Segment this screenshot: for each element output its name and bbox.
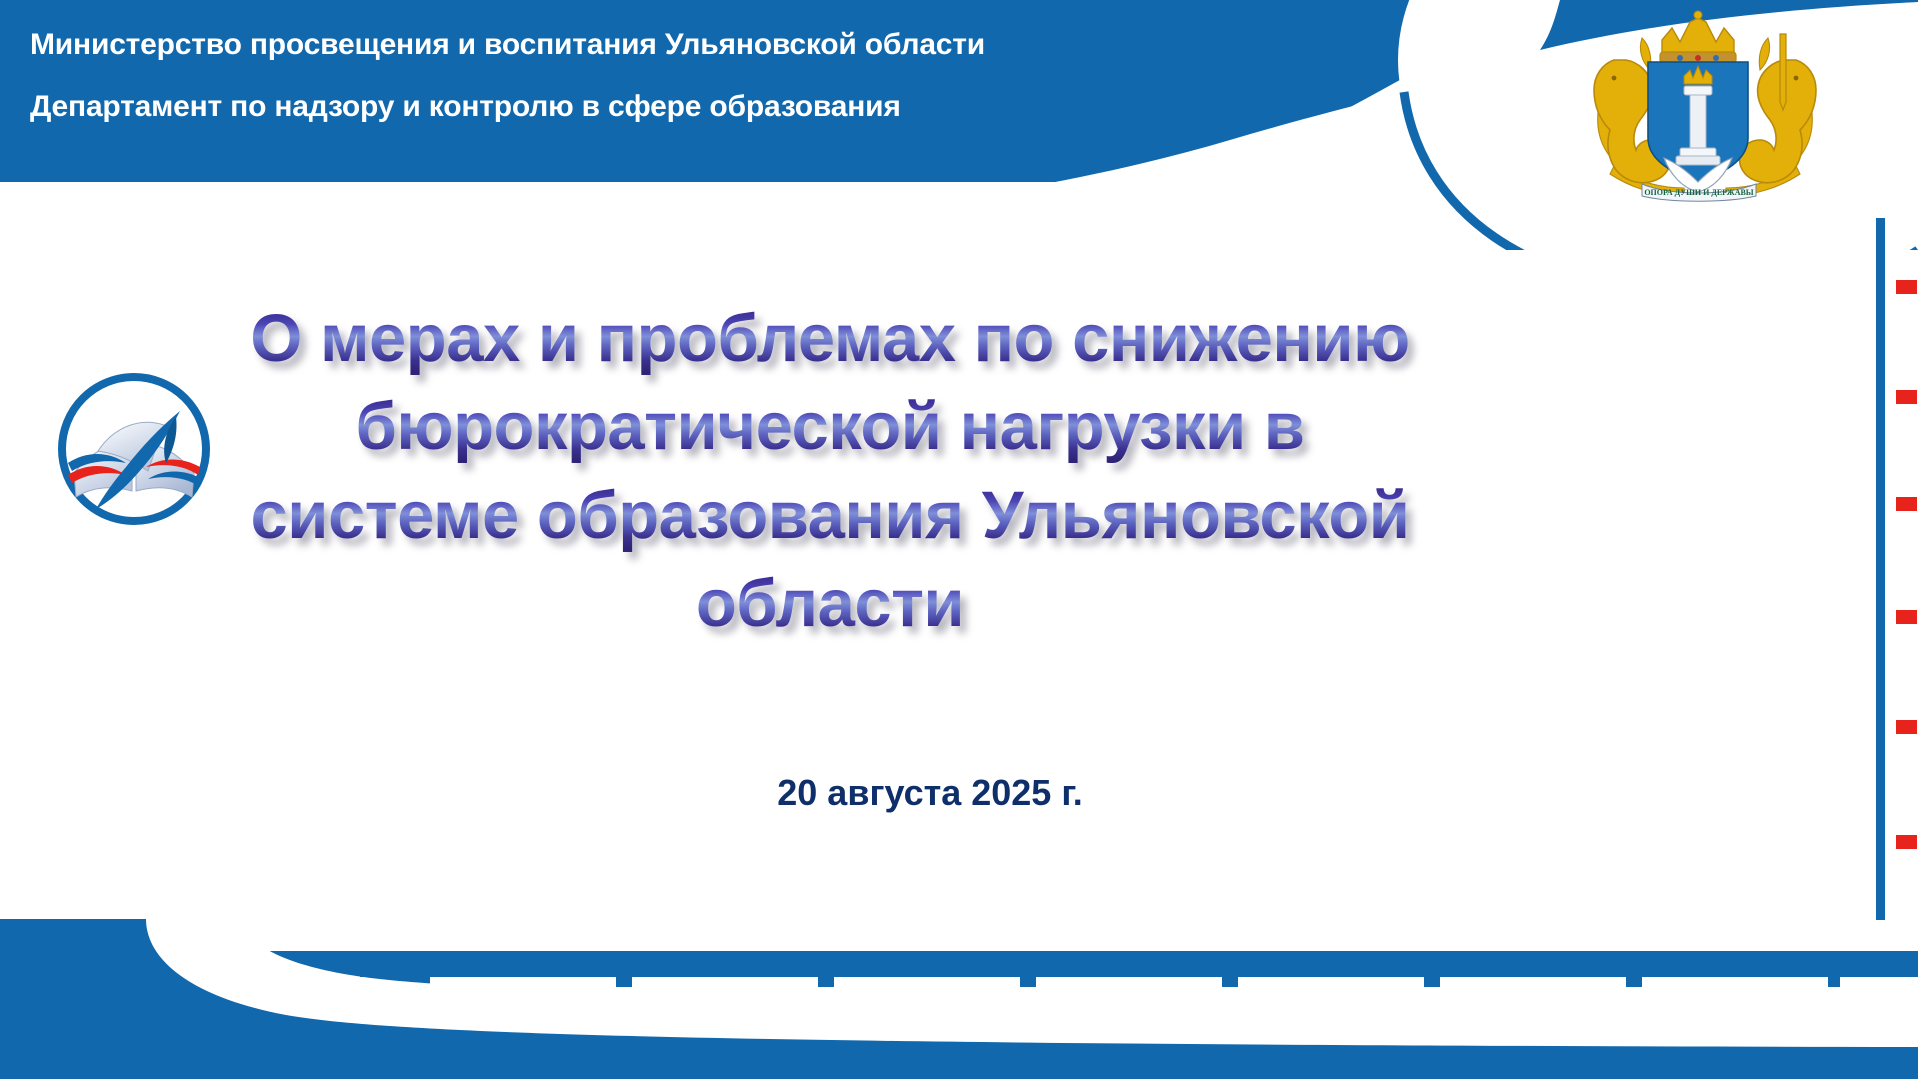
title-line-2: бюрократической нагрузки в bbox=[185, 383, 1475, 471]
right-dash-6 bbox=[1896, 835, 1917, 849]
lion-right-icon bbox=[1740, 60, 1816, 183]
title-slide: Министерство просвещения и воспитания Ул… bbox=[0, 0, 1918, 1079]
footer-white-swoosh bbox=[0, 919, 1918, 1053]
footer-left-block bbox=[0, 919, 1918, 1079]
title-line-1: О мерах и проблемах по снижению bbox=[185, 295, 1475, 383]
page-title: О мерах и проблемах по снижению бюрократ… bbox=[185, 295, 1475, 649]
motto-text: ОПОРА ДУШИ И ДЕРЖАВЫ bbox=[1644, 188, 1753, 197]
slide-date: 20 августа 2025 г. bbox=[0, 772, 1860, 814]
footer-band bbox=[0, 919, 1918, 1079]
right-dash-4 bbox=[1896, 610, 1917, 624]
right-vertical-rule bbox=[1876, 218, 1885, 920]
crown-icon bbox=[1660, 11, 1736, 63]
title-line-4: области bbox=[185, 560, 1475, 648]
right-dash-2 bbox=[1896, 390, 1917, 404]
footer-gap-1 bbox=[430, 977, 616, 989]
department-line: Департамент по надзору и контролю в сфер… bbox=[30, 90, 1130, 123]
footer-gap-7 bbox=[1642, 977, 1828, 989]
ministry-line: Министерство просвещения и воспитания Ул… bbox=[30, 28, 1130, 61]
footer-dash-bar bbox=[220, 951, 1918, 987]
footer-gap-3 bbox=[834, 977, 1020, 989]
footer-gap-5 bbox=[1238, 977, 1424, 989]
footer-gap-2 bbox=[632, 977, 818, 989]
right-dash-1 bbox=[1896, 280, 1917, 294]
footer-gap-6 bbox=[1440, 977, 1626, 989]
right-dash-5 bbox=[1896, 720, 1917, 734]
right-dash-3 bbox=[1896, 497, 1917, 511]
footer-gap-4 bbox=[1036, 977, 1222, 989]
coat-of-arms-icon: ОПОРА ДУШИ И ДЕРЖАВЫ bbox=[1580, 0, 1830, 203]
footer-base-bar bbox=[0, 1007, 1918, 1079]
footer-gap-8 bbox=[1840, 977, 1918, 989]
sword-icon bbox=[1780, 34, 1786, 110]
footer-dash-overlay bbox=[360, 953, 1918, 987]
header-text-group: Министерство просвещения и воспитания Ул… bbox=[30, 28, 1130, 123]
footer-shape bbox=[0, 919, 1918, 1079]
title-line-3: системе образования Ульяновской bbox=[185, 472, 1475, 560]
